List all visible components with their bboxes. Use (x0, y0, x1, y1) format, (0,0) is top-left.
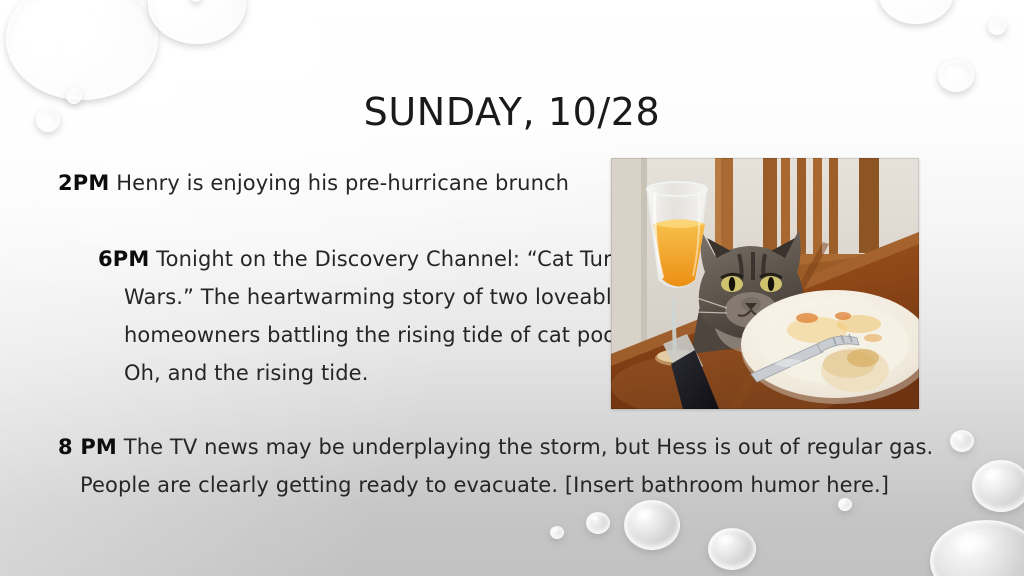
slide-title: SUNDAY, 10/28 (0, 90, 1024, 134)
entry-text-6pm: Tonight on the Discovery Channel: “Cat T… (124, 247, 636, 385)
entry-text-2pm: Henry is enjoying his pre-hurricane brun… (110, 171, 570, 195)
droplet-14 (550, 526, 564, 539)
timeline-entry-6pm: 6PM Tonight on the Discovery Channel: “C… (98, 240, 640, 392)
droplet-12 (624, 500, 680, 550)
timeline-entry-8pm: 8 PM The TV news may be underplaying the… (58, 428, 980, 504)
droplet-10 (930, 520, 1024, 576)
entry-time-2pm: 2PM (58, 171, 110, 195)
droplet-1 (148, 0, 246, 44)
photo-illustration (611, 158, 919, 409)
droplet-7 (988, 18, 1006, 35)
droplet-4 (190, 0, 202, 2)
entry-time-6pm: 6PM (98, 247, 150, 271)
droplet-13 (708, 528, 756, 570)
droplet-11 (586, 512, 610, 534)
slide-canvas: SUNDAY, 10/28 2PM Henry is enjoying his … (0, 0, 1024, 576)
entry-text-8pm: The TV news may be underplaying the stor… (80, 435, 933, 497)
droplet-6 (938, 60, 974, 92)
entry-time-8pm: 8 PM (58, 435, 117, 459)
droplet-0 (6, 0, 158, 100)
brunch-cat-photo (611, 158, 919, 409)
timeline-entry-2pm: 2PM Henry is enjoying his pre-hurricane … (58, 164, 618, 202)
droplet-5 (878, 0, 954, 24)
